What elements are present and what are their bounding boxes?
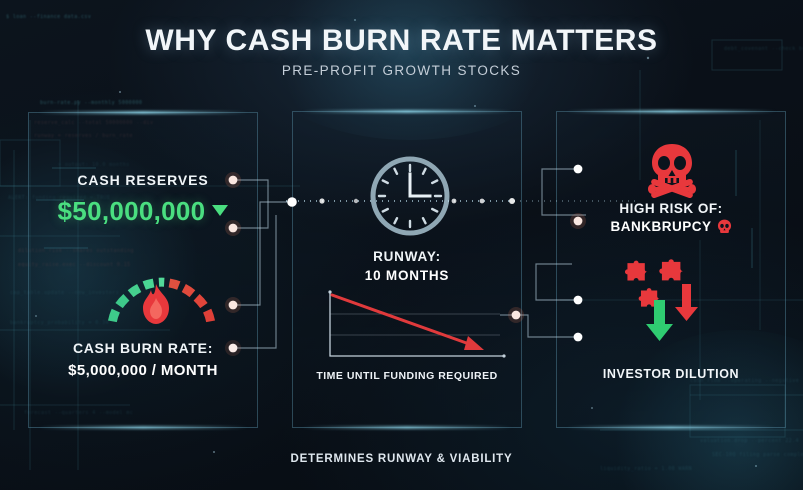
skull-crossbones-icon <box>644 142 700 198</box>
skull-icon <box>717 219 732 234</box>
infographic-canvas: $ loan --finance data.csv burn-rate.py -… <box>0 0 803 490</box>
flame-icon <box>136 282 176 326</box>
cash-burn-rate-value: $5,000,000 / MONTH <box>28 362 258 379</box>
investor-dilution-label: INVESTOR DILUTION <box>556 367 786 381</box>
page-title: WHY CASH BURN RATE MATTERS <box>0 24 803 58</box>
bottom-caption: DETERMINES RUNWAY & VIABILITY <box>0 453 803 465</box>
bg-code-line: valuation.drop --percent 22.4 <box>700 438 799 444</box>
bg-code-line: $ loan --finance data.csv <box>6 14 91 20</box>
cash-burn-rate-label: CASH BURN RATE: <box>28 340 258 356</box>
runway-label: RUNWAY: <box>292 249 522 264</box>
runway-decline-chart <box>322 288 508 363</box>
runway-value: 10 MONTHS <box>292 268 522 283</box>
bg-code-line: burn-rate.py --monthly 5000000 <box>40 100 142 106</box>
chart-xlabel: TIME UNTIL FUNDING REQUIRED <box>292 370 522 382</box>
page-subtitle: PRE-PROFIT GROWTH STOCKS <box>0 63 803 78</box>
bg-code-line: liquidity_ratio = 1.08 WARN <box>600 466 692 472</box>
cash-reserves-value: $50,000,000 <box>58 196 206 226</box>
high-risk-label: HIGH RISK OF: <box>556 201 786 216</box>
puzzle-pieces-arrows-icon <box>624 258 714 346</box>
trend-down-icon <box>212 205 228 216</box>
cash-reserves-value-row: $50,000,000 <box>28 196 258 227</box>
clock-icon <box>368 154 452 238</box>
bankruptcy-row: BANKBRUPCY <box>556 219 786 234</box>
bankruptcy-label: BANKBRUPCY <box>610 219 711 234</box>
cash-reserves-label: CASH RESERVES <box>28 172 258 188</box>
